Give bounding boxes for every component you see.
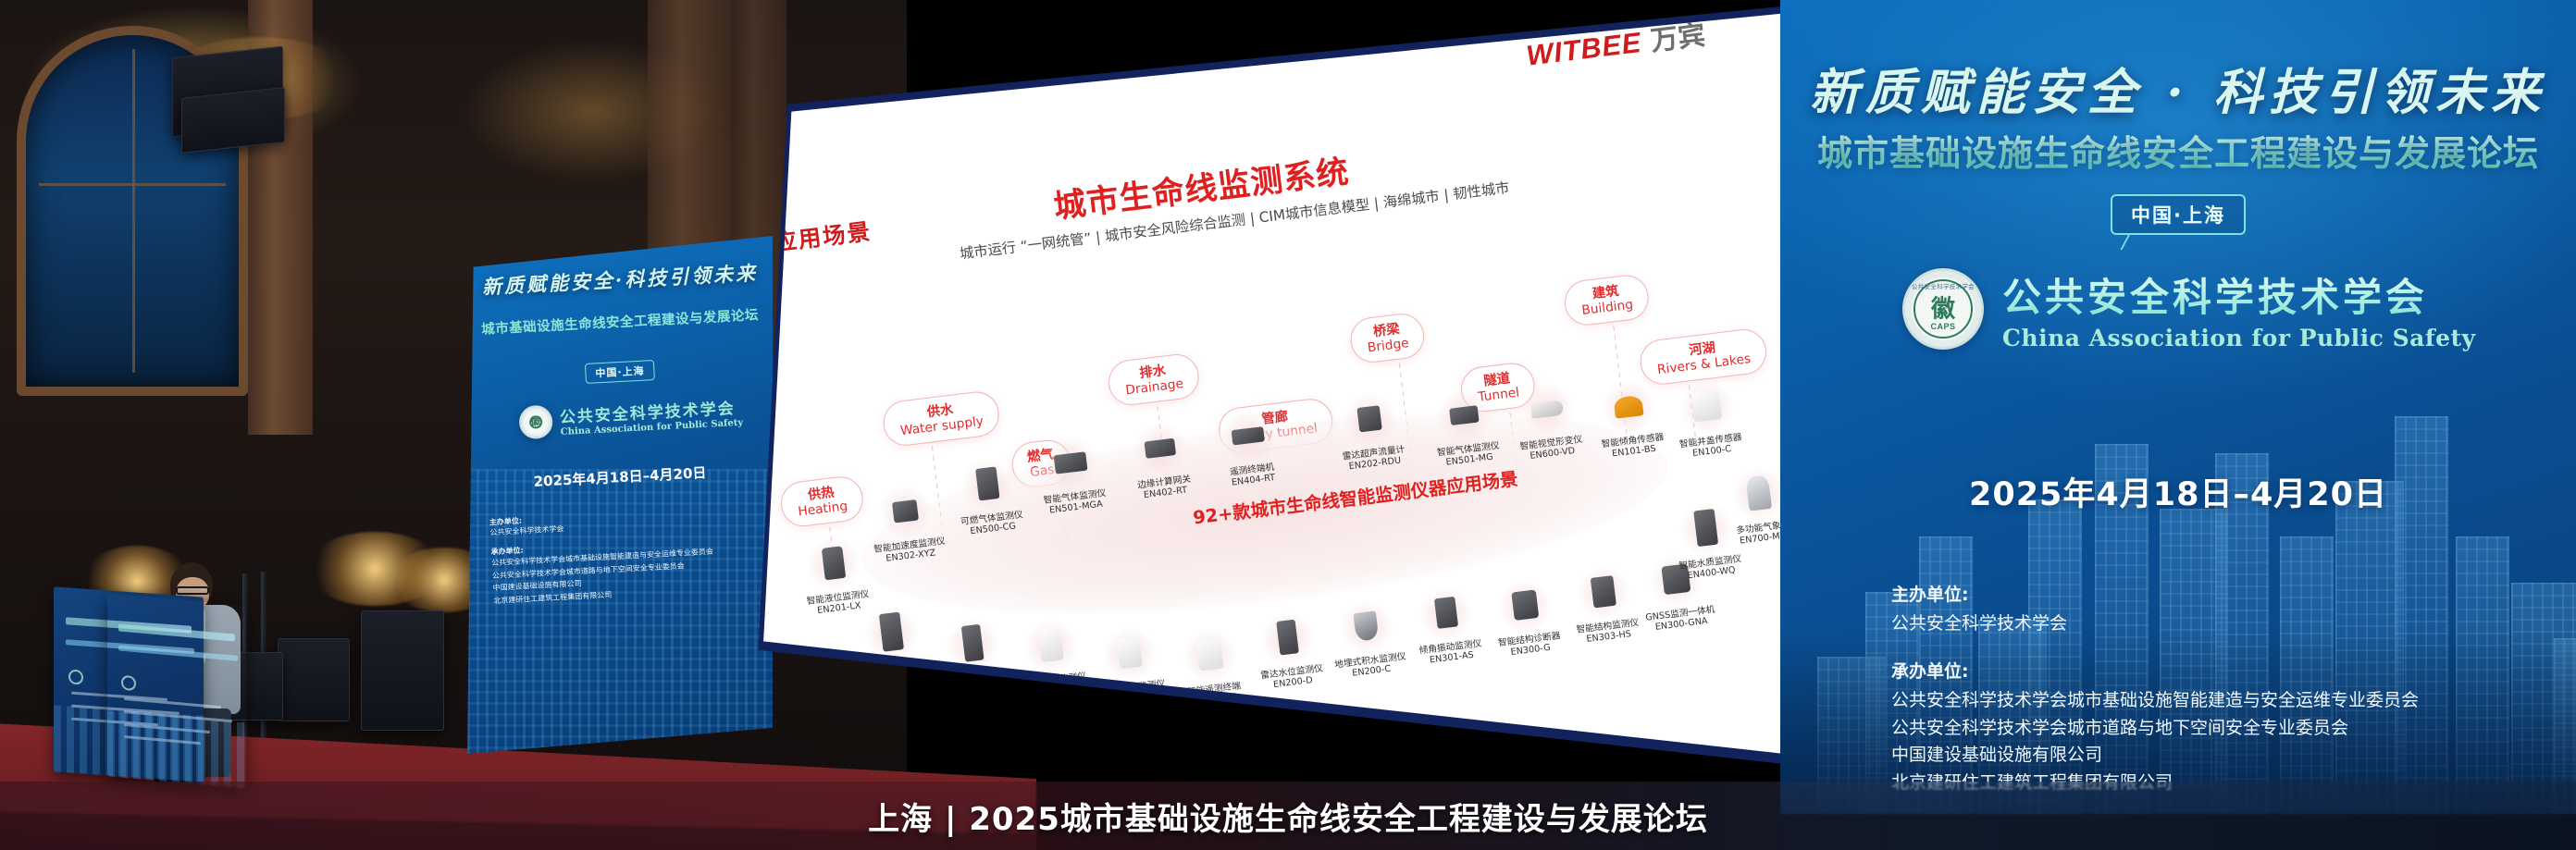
device-icon	[892, 499, 919, 523]
device-halo	[1517, 380, 1577, 439]
device-icon	[1037, 628, 1063, 662]
banner-forum-title: 城市基础设施生命线安全工程建设与发展论坛	[1780, 125, 2576, 176]
caption-title: 上海 | 2025城市基础设施生命线安全工程建设与发展论坛	[868, 794, 1708, 839]
left-banner-screen: 新质赋能安全·科技引领未来 城市基础设施生命线安全工程建设与发展论坛 中国·上海…	[467, 236, 773, 754]
coorganizer-item: 中国建设基础设施有限公司	[1891, 742, 2419, 769]
banner-credits: 主办单位: 公共安全科学技术学会 承办单位: 公共安全科学技术学会城市基础设施智…	[1891, 581, 2419, 796]
device-icon	[1195, 638, 1223, 671]
device-halo	[1131, 420, 1190, 479]
device-icon	[961, 624, 985, 662]
device-halo	[1496, 577, 1555, 636]
left-banner-org-lockup: 公共安全科学技术学会 徽 公共安全科学技术学会 China Associatio…	[518, 395, 743, 440]
left-banner-location-badge: 中国·上海	[585, 360, 655, 384]
device-halo	[1677, 500, 1736, 560]
device-layer: 智能液位监测仪EN201-LX智能加速度监测仪EN302-XYZ可燃气体监测仪E…	[754, 6, 1790, 796]
device-icon	[1530, 400, 1564, 418]
line-array-speaker	[181, 87, 285, 154]
left-banner-credits: 主办单位: 公共安全科学技术学会 承办单位: 公共安全科学技术学会城市基础设施智…	[489, 506, 716, 608]
slide-content: WITBEE 万宾 应用场景 城市生命线监测系统 城市运行 “一网统管” | 城…	[754, 6, 1790, 796]
device-icon	[879, 612, 904, 652]
device-icon	[1232, 426, 1265, 445]
banner-org-cn: 公共安全科学技术学会	[2002, 266, 2476, 323]
device-halo	[1337, 598, 1396, 658]
slide-surface: WITBEE 万宾 应用场景 城市生命线监测系统 城市运行 “一网统管” | 城…	[754, 6, 1790, 796]
banner-location-badge: 中国·上海	[2111, 194, 2246, 235]
device-icon	[1054, 451, 1088, 474]
copyright-cn: 万宾科技	[1038, 756, 1081, 773]
device-halo	[1435, 387, 1494, 446]
device-halo	[1100, 625, 1159, 684]
device-icon	[1511, 589, 1539, 621]
device-icon	[1449, 405, 1480, 425]
device-icon	[1353, 610, 1379, 641]
device-halo	[1219, 407, 1278, 466]
device-item[interactable]: 遥测终端机EN404-RT	[1191, 404, 1308, 493]
device-halo	[959, 456, 1018, 515]
caps-seal-icon: 公共安全科学技术学会 徽 CAPS	[1902, 268, 1984, 350]
device-halo	[876, 483, 935, 542]
device-icon	[1693, 509, 1718, 547]
device-halo	[1022, 617, 1081, 676]
banner-org-en: China Association for Public Safety	[2002, 325, 2476, 351]
device-halo	[1041, 435, 1100, 494]
device-item[interactable]: 智能井盖传感器EN100-C	[1649, 375, 1766, 463]
left-banner-title: 城市基础设施生命线安全工程建设与发展论坛	[467, 303, 773, 339]
device-icon	[1276, 620, 1299, 656]
speaker-cabinet	[278, 638, 350, 721]
projection-screen: WITBEE 万宾 应用场景 城市生命线监测系统 城市运行 “一网统管” | 城…	[754, 6, 1790, 796]
device-halo	[1678, 378, 1737, 437]
banner-event-date: 2025年4月18日–4月20日	[1780, 468, 2576, 515]
conference-photo-stage: 新质赋能安全·科技引领未来 城市基础设施生命线安全工程建设与发展论坛 中国·上海…	[0, 0, 2576, 850]
coorganizer-item: 公共安全科学技术学会城市道路与地下空间安全专业委员会	[1891, 715, 2419, 742]
device-icon	[975, 466, 999, 500]
banner-calligraphy-slogan: 新质赋能安全 · 科技引领未来	[1780, 54, 2576, 124]
device-halo	[1417, 585, 1476, 644]
device-icon	[1591, 575, 1616, 608]
device-item[interactable]: 智能水质监测仪EN400-WQ	[1649, 497, 1766, 585]
coorganizer-label: 承办单位:	[1891, 658, 2419, 683]
device-halo	[1258, 610, 1318, 669]
speaker-cabinet	[361, 610, 444, 731]
banner-organization-lockup: 公共安全科学技术学会 徽 CAPS 公共安全科学技术学会 China Assoc…	[1902, 266, 2476, 351]
device-halo	[1340, 390, 1399, 450]
device-icon	[1613, 395, 1643, 419]
left-banner-calligraphy: 新质赋能安全·科技引领未来	[467, 257, 773, 301]
host-label: 主办单位:	[1891, 581, 2419, 606]
device-halo	[1181, 627, 1240, 686]
bottom-caption-bar: 上海 | 2025城市基础设施生命线安全工程建设与发展论坛	[0, 782, 2576, 850]
seal-acronym: CAPS	[1905, 322, 1981, 331]
coorganizer-item: 公共安全科学技术学会城市基础设施智能建造与安全运维专业委员会	[1891, 687, 2419, 714]
device-icon	[822, 546, 846, 580]
caps-seal-icon: 公共安全科学技术学会 徽	[518, 404, 553, 439]
device-icon	[1434, 597, 1458, 629]
main-event-banner: 新质赋能安全 · 科技引领未来 城市基础设施生命线安全工程建设与发展论坛 中国·…	[1780, 0, 2576, 814]
device-model: EN400-RDU	[923, 677, 1034, 701]
device-icon	[1117, 636, 1143, 669]
device-icon	[1144, 438, 1176, 459]
glasses-icon	[176, 586, 209, 595]
podium-artwork	[107, 593, 246, 788]
host-item: 公共安全科学技术学会	[1891, 610, 2419, 637]
seal-center-glyph: 徽	[1931, 289, 1955, 324]
podium-front	[107, 593, 246, 788]
device-icon	[1690, 390, 1722, 422]
device-icon	[1356, 405, 1381, 432]
